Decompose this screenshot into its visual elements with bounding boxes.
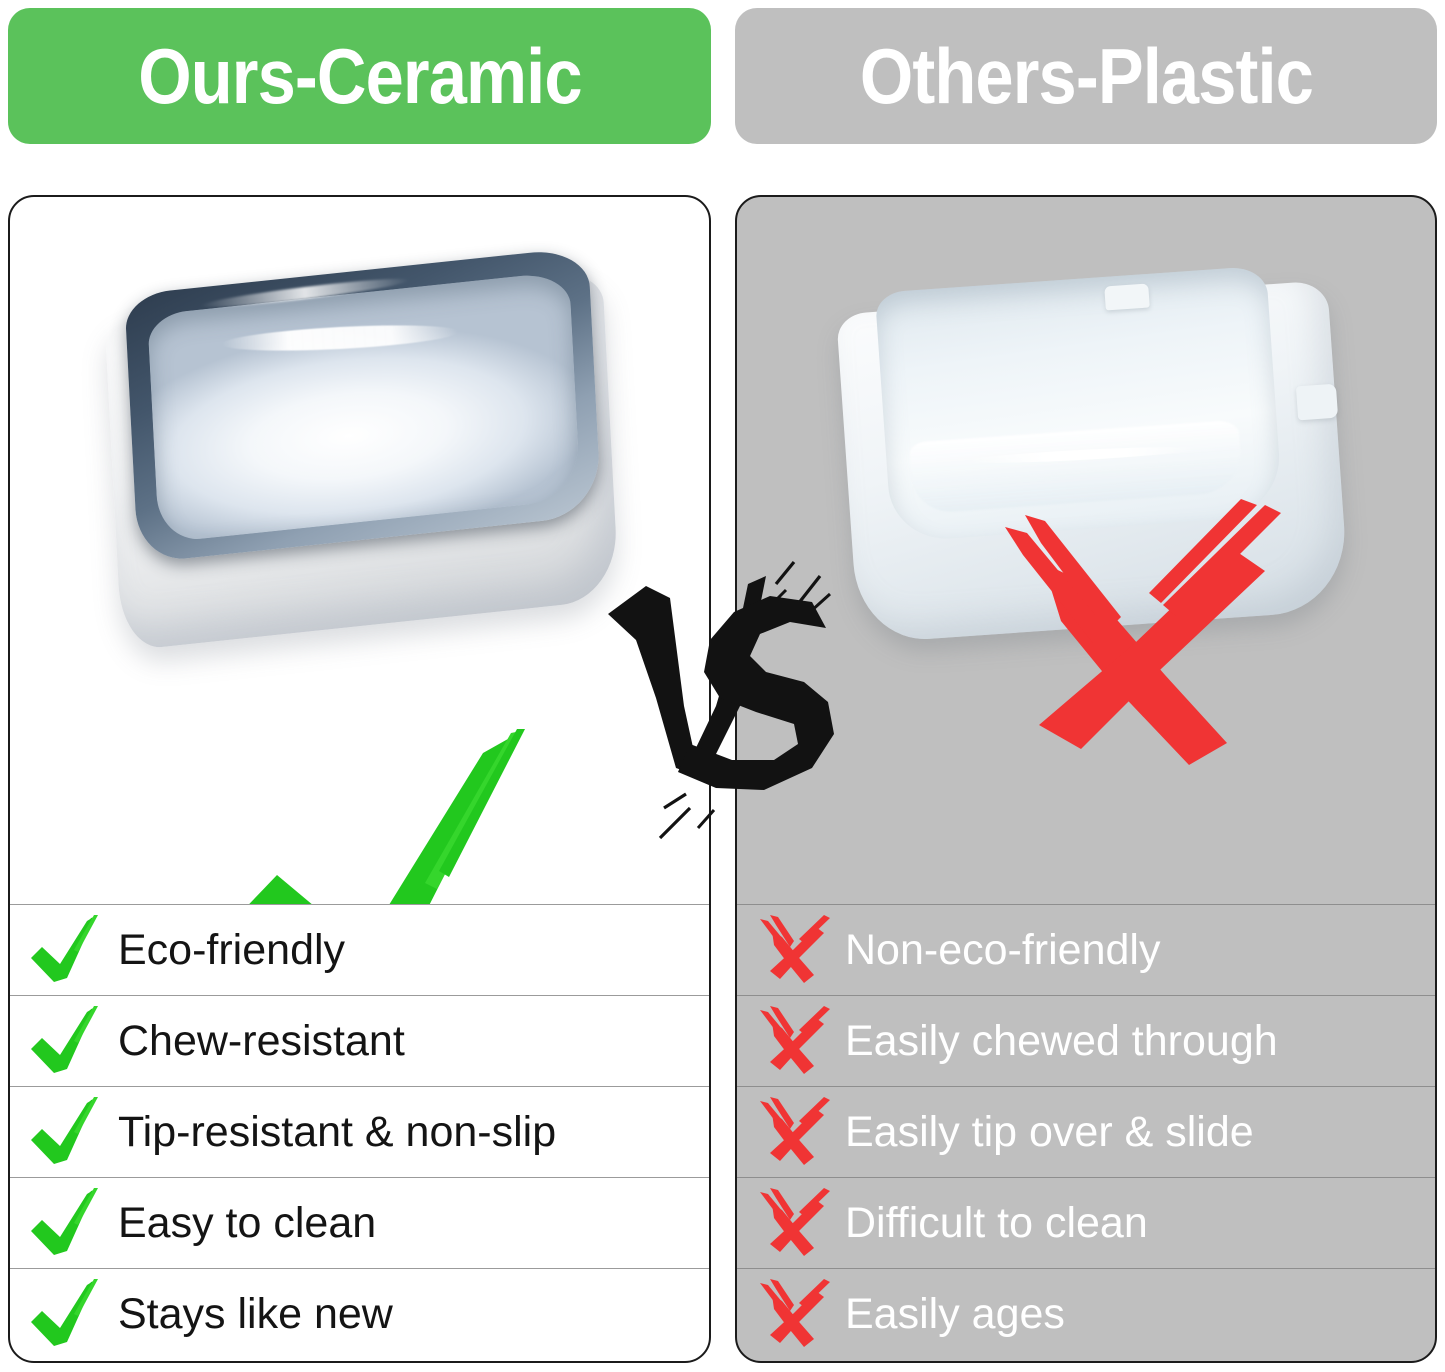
ceramic-bowl-image xyxy=(72,235,652,665)
red-cross-brush-icon xyxy=(965,497,1295,797)
header-title-others: Others-Plastic xyxy=(859,37,1312,115)
check-icon xyxy=(10,1269,118,1360)
feature-label: Stays like new xyxy=(118,1293,393,1336)
feature-row: Easy to clean xyxy=(10,1177,709,1268)
feature-list-others: Non-eco-friendly Easily chewed through xyxy=(737,904,1435,1359)
header-badge-ours: Ours-Ceramic xyxy=(8,8,711,144)
plastic-bowl-tab-top xyxy=(1104,283,1150,310)
header-badge-others: Others-Plastic xyxy=(735,8,1437,144)
check-icon xyxy=(10,1087,118,1178)
cross-icon xyxy=(737,1178,845,1269)
vs-brush-icon xyxy=(598,556,868,856)
feature-label: Easily chewed through xyxy=(845,1020,1278,1063)
feature-row: Difficult to clean xyxy=(737,1177,1435,1268)
feature-label: Tip-resistant & non-slip xyxy=(118,1111,556,1154)
feature-label: Easy to clean xyxy=(118,1202,376,1245)
feature-label: Chew-resistant xyxy=(118,1020,405,1063)
feature-row: Easily ages xyxy=(737,1268,1435,1359)
feature-label: Difficult to clean xyxy=(845,1202,1148,1245)
header-title-ours: Ours-Ceramic xyxy=(138,37,581,115)
feature-row: Tip-resistant & non-slip xyxy=(10,1086,709,1177)
cross-icon xyxy=(737,905,845,996)
header-row: Ours-Ceramic Others-Plastic xyxy=(0,0,1445,152)
feature-row: Easily tip over & slide xyxy=(737,1086,1435,1177)
feature-label: Easily ages xyxy=(845,1293,1065,1336)
cross-icon xyxy=(737,1269,845,1360)
feature-label: Non-eco-friendly xyxy=(845,929,1160,972)
cross-icon xyxy=(737,996,845,1087)
plastic-bowl-tab-side xyxy=(1296,384,1338,421)
feature-row: Chew-resistant xyxy=(10,995,709,1086)
check-icon xyxy=(10,905,118,996)
green-check-brush-icon xyxy=(215,725,535,904)
feature-row: Eco-friendly xyxy=(10,904,709,995)
feature-row: Stays like new xyxy=(10,1268,709,1359)
feature-row: Easily chewed through xyxy=(737,995,1435,1086)
check-icon xyxy=(10,996,118,1087)
feature-list-ours: Eco-friendly Chew-resistant xyxy=(10,904,709,1359)
feature-label: Easily tip over & slide xyxy=(845,1111,1254,1154)
feature-row: Non-eco-friendly xyxy=(737,904,1435,995)
check-icon xyxy=(10,1178,118,1269)
ceramic-bowl-interior xyxy=(147,271,581,543)
cross-icon xyxy=(737,1087,845,1178)
feature-label: Eco-friendly xyxy=(118,929,345,972)
comparison-infographic: Ours-Ceramic Others-Plastic xyxy=(0,0,1445,1372)
